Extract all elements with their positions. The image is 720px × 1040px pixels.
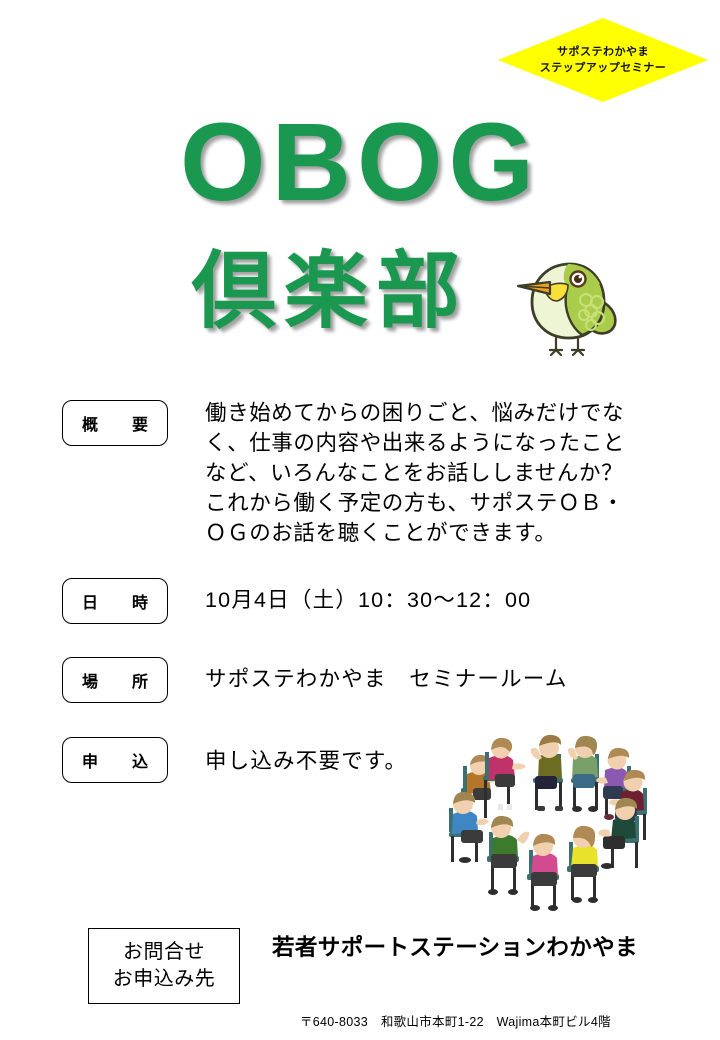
row-body-overview: 働き始めてからの困りごと、悩みだけでな く、仕事の内容や出来るようになったこと …	[205, 398, 625, 548]
row-body-venue: サポステわかやま セミナールーム	[205, 664, 568, 694]
page-title-main: OBOG	[0, 104, 720, 222]
seminar-badge: サポステわかやま ステップアップセミナー	[498, 18, 708, 102]
datetime-value: 10月4日（土）10：30〜12：00	[205, 585, 531, 615]
page-title-sub: 倶楽部	[130, 240, 530, 342]
contact-label-line-2: お申込み先	[113, 966, 216, 993]
overview-line-2: く、仕事の内容や出来るようになったこと	[205, 428, 625, 458]
person	[568, 736, 601, 812]
overview-line-4: これから働く予定の方も、サポステＯＢ・	[205, 488, 625, 518]
contact-label-line-1: お問合せ	[123, 939, 205, 966]
organization-name: 若者サポートステーションわかやま	[272, 930, 638, 962]
person	[531, 735, 563, 811]
row-label-application: 申 込	[62, 737, 168, 783]
application-value: 申し込み不要です。	[205, 746, 407, 776]
group-discussion-illustration	[443, 726, 665, 912]
organization-contact-info: 〒640-8033 和歌山市本町1-22 Wajima本町ビル4階 TEL 07…	[300, 980, 611, 1040]
row-body-application: 申し込み不要です。	[205, 746, 407, 776]
overview-line-3: など、いろんなことをお話ししませんか？	[205, 458, 625, 488]
badge-line-2: ステップアップセミナー	[498, 60, 708, 76]
green-bird-mascot-icon	[512, 252, 620, 358]
row-body-datetime: 10月4日（土）10：30〜12：00	[205, 585, 531, 615]
overview-line-5: ＯＧのお話を聴くことができます。	[205, 518, 625, 548]
person	[487, 816, 529, 895]
poster-root: サポステわかやま ステップアップセミナー OBOG 倶楽部	[0, 0, 720, 1040]
person	[567, 826, 599, 903]
venue-value: サポステわかやま セミナールーム	[205, 664, 568, 694]
overview-line-1: 働き始めてからの困りごと、悩みだけでな	[205, 398, 625, 428]
contact-label-box: お問合せ お申込み先	[88, 928, 240, 1004]
row-label-venue: 場 所	[62, 657, 168, 703]
person	[449, 792, 489, 863]
badge-line-1: サポステわかやま	[498, 44, 708, 60]
person	[527, 834, 559, 911]
badge-text: サポステわかやま ステップアップセミナー	[498, 44, 708, 76]
organization-address: 〒640-8033 和歌山市本町1-22 Wajima本町ビル4階	[300, 1014, 611, 1031]
person	[598, 798, 639, 869]
row-label-datetime: 日 時	[62, 578, 168, 624]
row-label-overview: 概 要	[62, 400, 168, 446]
